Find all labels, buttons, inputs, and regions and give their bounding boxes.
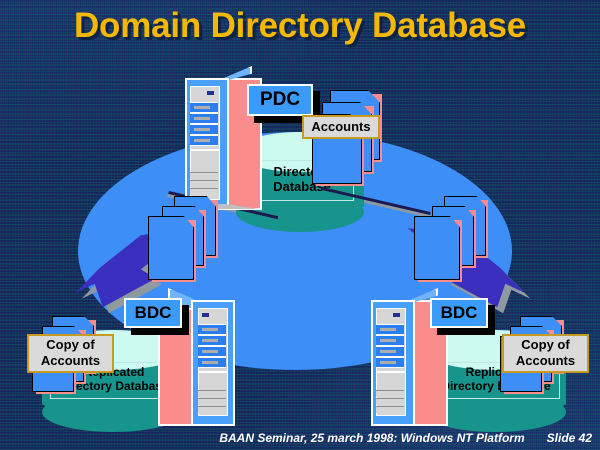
tower-vent: [198, 390, 226, 397]
tower-drive-slot: [198, 335, 226, 346]
tower-vent: [190, 180, 218, 187]
tower-power-led-icon: [393, 313, 400, 317]
document-page: [148, 216, 194, 280]
tower-drive-slot: [190, 102, 218, 113]
page-title: Domain Directory Database: [0, 4, 600, 48]
tower-drive-slot: [190, 124, 218, 135]
right-bdc-role-label: BDC: [430, 298, 488, 328]
slide-canvas: Domain Directory Database Directory Data…: [0, 0, 600, 450]
primary-accounts-label: Accounts: [302, 115, 380, 139]
tower-power-led-icon: [202, 313, 209, 317]
tower-vent: [376, 406, 404, 413]
footer-text: BAAN Seminar, 25 march 1998: Windows NT …: [219, 431, 524, 445]
tower-drive-slot: [198, 346, 226, 357]
left-bdc-role-label: BDC: [124, 298, 182, 328]
left-copy-of-accounts-label: Copy of Accounts: [27, 334, 114, 373]
tower-vent: [198, 406, 226, 413]
tower-power-led-icon: [207, 91, 214, 95]
tower-drive-slot: [376, 335, 404, 346]
left-copy-of-accounts-line2: Accounts: [41, 353, 100, 368]
tower-drive-slot: [376, 357, 404, 368]
tower-vent: [376, 398, 404, 405]
tower-drive-slot: [376, 346, 404, 357]
document-page: [414, 216, 460, 280]
left-transfer-document-stack: [138, 194, 224, 270]
tower-vent: [198, 398, 226, 405]
slide-footer: BAAN Seminar, 25 march 1998: Windows NT …: [219, 431, 592, 445]
right-copy-of-accounts-label: Copy of Accounts: [502, 334, 589, 373]
right-transfer-document-stack: [408, 194, 494, 270]
tower-drive-slot: [190, 135, 218, 146]
tower-drive-slot: [198, 357, 226, 368]
tower-drive-slot: [198, 324, 226, 335]
right-copy-of-accounts-line2: Accounts: [516, 353, 575, 368]
pdc-role-label: PDC: [247, 84, 313, 116]
left-copy-of-accounts-line1: Copy of: [46, 337, 94, 352]
tower-vent: [190, 172, 218, 179]
right-copy-of-accounts-line1: Copy of: [521, 337, 569, 352]
tower-drive-slot: [376, 324, 404, 335]
tower-vent: [376, 390, 404, 397]
tower-drive-slot: [190, 113, 218, 124]
footer-slide-number: Slide 42: [547, 431, 592, 445]
